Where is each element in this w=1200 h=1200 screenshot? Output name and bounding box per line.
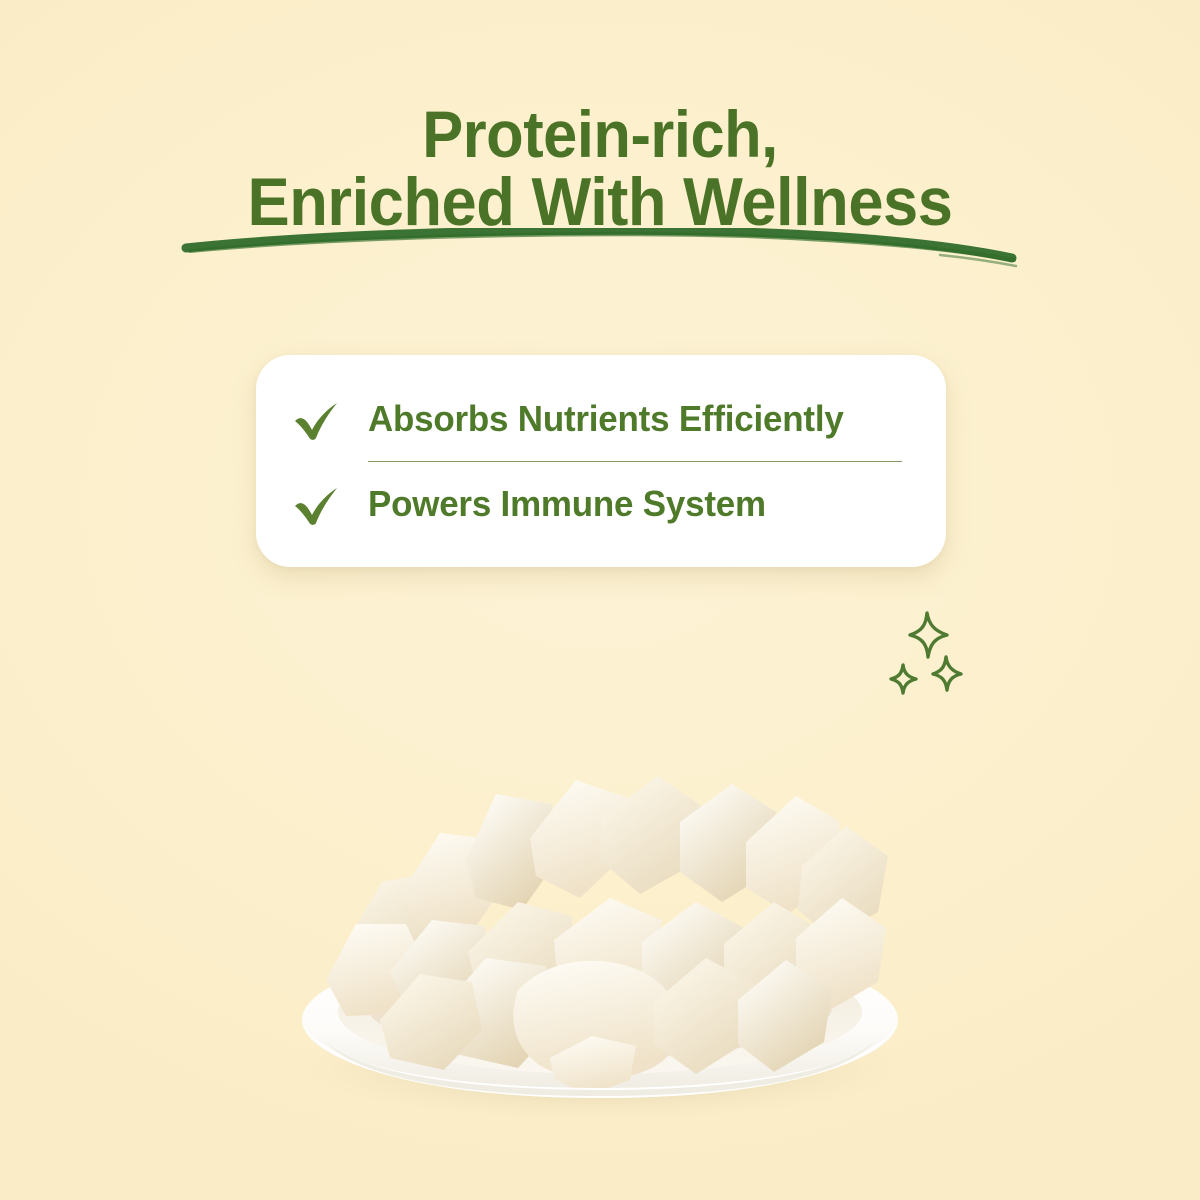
poster: Protein-rich, Enriched With Wellness Abs… bbox=[0, 0, 1200, 1200]
product-photo bbox=[230, 690, 970, 1120]
check-icon bbox=[290, 393, 342, 445]
benefit-row: Powers Immune System bbox=[290, 462, 912, 546]
benefits-card: Absorbs Nutrients Efficiently Powers Imm… bbox=[256, 355, 946, 567]
page-title-line1: Protein-rich, bbox=[42, 100, 1158, 168]
benefit-label: Powers Immune System bbox=[368, 484, 766, 524]
page-title-line2: Enriched With Wellness bbox=[42, 168, 1158, 236]
benefit-label: Absorbs Nutrients Efficiently bbox=[368, 399, 844, 439]
headline-block: Protein-rich, Enriched With Wellness bbox=[0, 100, 1200, 236]
sparkle-icon bbox=[891, 665, 916, 693]
benefit-divider bbox=[368, 461, 902, 462]
check-icon bbox=[290, 478, 342, 530]
benefit-row: Absorbs Nutrients Efficiently bbox=[290, 377, 912, 461]
sparkle-icon bbox=[933, 657, 961, 690]
sparkle-icon bbox=[910, 613, 947, 657]
